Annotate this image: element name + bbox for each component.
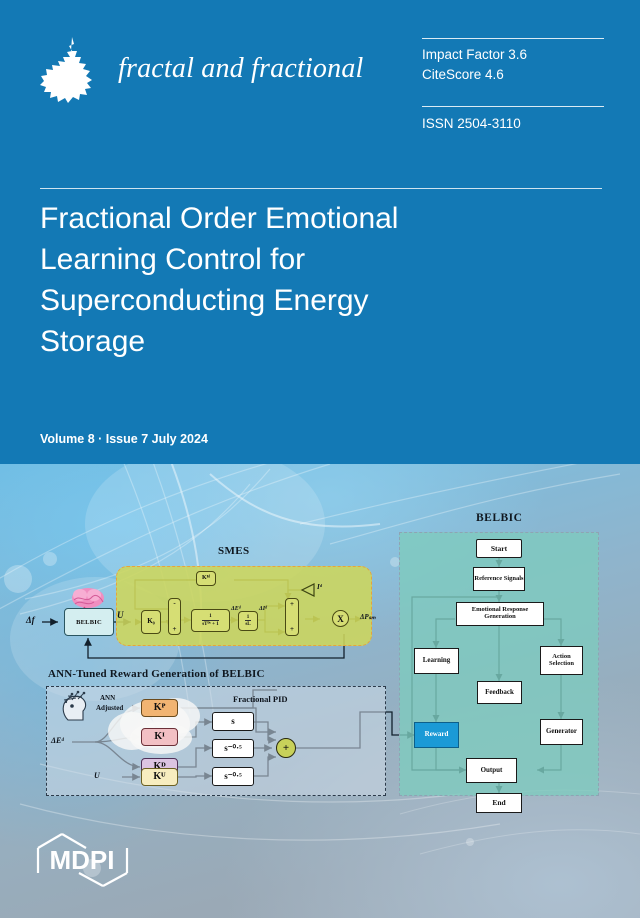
journal-title: fractal and fractional <box>118 53 364 85</box>
inductor-denominator: sL <box>245 620 250 628</box>
smes-panel <box>116 566 372 646</box>
belbic-title: BELBIC <box>476 512 522 524</box>
belbic-node-start: Start <box>476 539 522 558</box>
ann-input-label: ΔEᵈ <box>51 736 64 745</box>
title-divider <box>40 188 602 189</box>
current-label: Iᵈ <box>317 583 322 591</box>
transfer-denominator: sTᴰᶜ + 1 <box>202 620 219 628</box>
belbic-node-learning: Learning <box>414 648 459 674</box>
belbic-node-emotional-response-generation: Emotional Response Generation <box>456 602 544 626</box>
volume-issue-label: Volume 8 · Issue 7 July 2024 <box>40 432 208 446</box>
mdpi-logo: MDPI <box>34 831 131 889</box>
belbic-node-generator: Generator <box>540 719 583 745</box>
title-line-2: Learning Control for <box>40 239 540 280</box>
smes-u-label: U <box>117 610 124 620</box>
smes-input-label: Δf <box>26 615 35 625</box>
belbic-node-reference-signals: Reference Signals <box>473 567 525 591</box>
title-line-3: Superconducting Energy <box>40 280 540 321</box>
belbic-node-reward: Reward <box>414 722 459 748</box>
smes-summer-2: + + <box>285 598 299 636</box>
page-title: Fractional Order Emotional Learning Cont… <box>40 198 540 362</box>
ann-u-input-label: U <box>94 771 100 780</box>
ann-adjusted-line2: Adjusted <box>96 704 123 712</box>
impact-factor-label: Impact Factor 3.6 <box>422 47 527 62</box>
mdpi-wordmark: MDPI <box>50 845 115 875</box>
smes-gain-k0: K₀ <box>141 610 161 634</box>
metrics-divider-top <box>422 38 604 39</box>
belbic-controller-block: BELBIC <box>64 608 114 636</box>
ann-gain-ki: Kᴵ <box>141 728 178 746</box>
smes-transfer-block: 1 sTᴰᶜ + 1 <box>191 609 230 632</box>
belbic-node-feedback: Feedback <box>477 681 522 704</box>
metrics-divider-bottom <box>422 106 604 107</box>
ann-head-icon <box>58 690 94 722</box>
belbic-node-end: End <box>476 793 522 813</box>
belbic-node-action-selection: Action Selection <box>540 646 583 675</box>
smes-feedback-gain: Kᴵᵈ <box>196 571 216 586</box>
title-line-4: Storage <box>40 321 540 362</box>
title-line-1: Fractional Order Emotional <box>40 198 540 239</box>
ann-operator-s2: s⁻⁰·⁵ <box>212 767 254 786</box>
ann-operator-s: s <box>212 712 254 731</box>
ann-gain-ku: Kᵁ <box>141 768 178 786</box>
summer2-plus-top: + <box>290 601 294 608</box>
header-band: fractal and fractional Impact Factor 3.6… <box>0 0 640 464</box>
ann-gain-kp: Kᴾ <box>141 699 178 717</box>
summer1-minus: - <box>173 600 175 607</box>
issn-label: ISSN 2504-3110 <box>422 116 521 131</box>
summer2-plus-bottom: + <box>290 626 294 633</box>
mdpi-hexagon-logo-icon: MDPI <box>34 831 131 889</box>
ann-adjusted-line1: ANN <box>100 694 115 702</box>
smes-multiplier: X <box>332 610 349 627</box>
smes-inductor-block: 1 sL <box>238 611 258 631</box>
fractional-pid-title: Fractional PID <box>233 694 288 704</box>
smes-output-label: ΔPₛₘ <box>360 613 376 621</box>
ann-operator-s1: s⁻⁰·⁵ <box>212 739 254 758</box>
smes-title: SMES <box>218 545 250 557</box>
ann-summer: + <box>276 738 296 758</box>
journal-cover: fractal and fractional Impact Factor 3.6… <box>0 0 640 918</box>
ann-title: ANN-Tuned Reward Generation of BELBIC <box>48 668 265 680</box>
fractal-logo-icon <box>38 35 100 105</box>
delta-id-label: ΔIᵈ <box>259 606 267 612</box>
cite-score-label: CiteScore 4.6 <box>422 67 504 82</box>
summer1-plus: + <box>173 626 177 633</box>
smes-summer-1: - + <box>168 598 181 635</box>
current-source-icon <box>300 583 316 597</box>
belbic-node-output: Output <box>466 758 517 783</box>
